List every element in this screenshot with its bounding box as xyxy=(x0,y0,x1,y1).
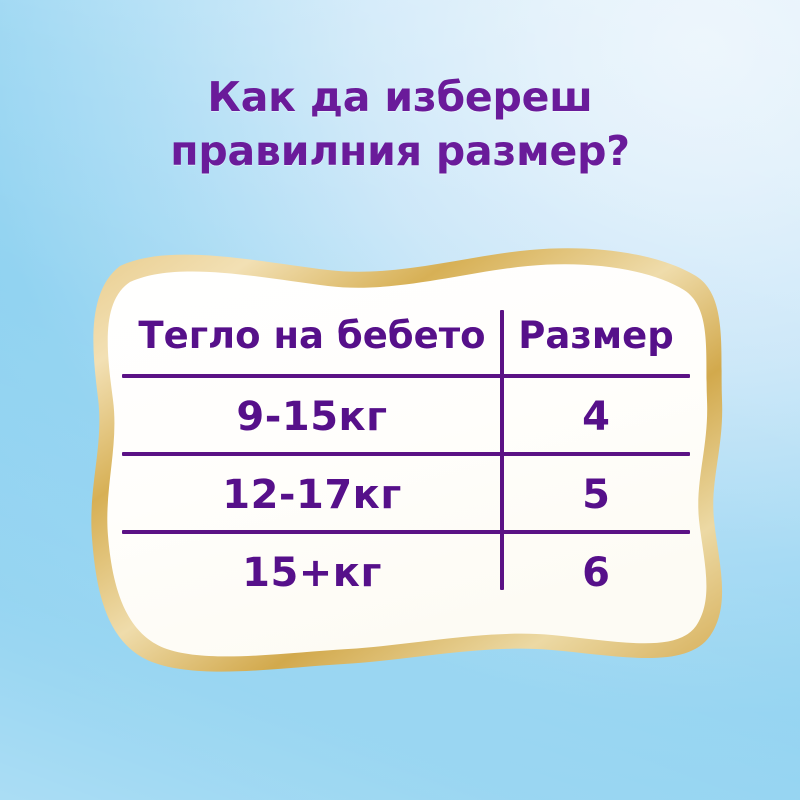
cell-size-3: 6 xyxy=(502,551,690,595)
table-row: 9-15кг 4 xyxy=(122,378,690,456)
table-rule-row2-divider xyxy=(122,530,690,534)
cell-weight-3: 15+кг xyxy=(122,551,502,595)
table-rule-header-divider xyxy=(122,374,690,378)
cell-weight-1: 9-15кг xyxy=(122,395,502,439)
cell-size-2: 5 xyxy=(502,473,690,517)
page-title-line-1: Как да избереш xyxy=(0,70,800,124)
page-title-line-2: правилния размер? xyxy=(0,124,800,178)
column-header-size: Размер xyxy=(502,314,690,358)
table-row: 12-17кг 5 xyxy=(122,456,690,534)
page-title: Как да избереш правилния размер? xyxy=(0,70,800,178)
size-guide-banner: Как да избереш правилния размер? xyxy=(0,0,800,800)
table-rule-row1-divider xyxy=(122,452,690,456)
table-row: 15+кг 6 xyxy=(122,534,690,612)
column-header-weight: Тегло на бебето xyxy=(122,314,502,358)
size-table: Тегло на бебето Размер 9-15кг 4 12-17кг … xyxy=(122,300,690,600)
table-column-divider xyxy=(500,310,504,590)
cell-size-1: 4 xyxy=(502,395,690,439)
table-header-row: Тегло на бебето Размер xyxy=(122,300,690,372)
cell-weight-2: 12-17кг xyxy=(122,473,502,517)
